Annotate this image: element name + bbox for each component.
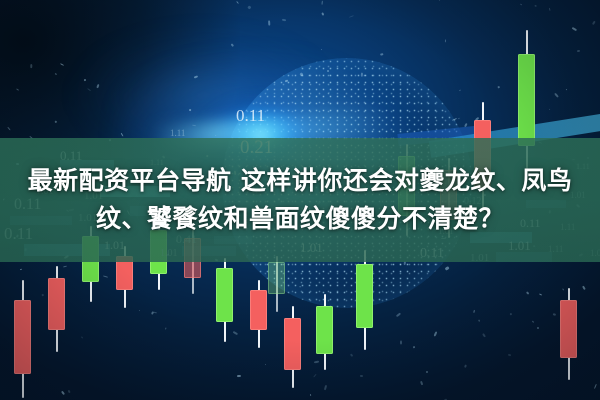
headline-line-2: 纹、饕餮纹和兽面纹傻傻分不清楚？	[96, 202, 504, 236]
banner-image: 0.110.210.111.011.110.111.010.111.011.01…	[0, 0, 600, 400]
headline-line-1: 最新配资平台导航 这样讲你还会对夔龙纹、凤鸟	[28, 164, 573, 198]
headline: 最新配资平台导航 这样讲你还会对夔龙纹、凤鸟 纹、饕餮纹和兽面纹傻傻分不清楚？	[0, 138, 600, 262]
